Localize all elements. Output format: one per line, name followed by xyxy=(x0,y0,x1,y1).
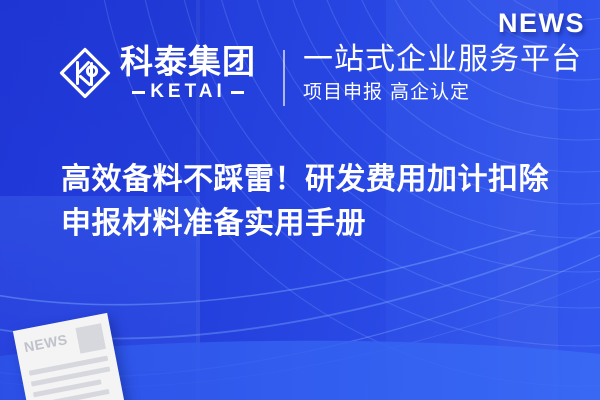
logo-dash-left xyxy=(132,91,145,94)
brand-name-en: KETAI xyxy=(145,82,231,102)
brand-name-en-row: KETAI xyxy=(120,82,256,102)
image-placeholder-block-icon xyxy=(75,323,105,353)
banner-header: NEWS 科泰集团 xyxy=(0,0,600,132)
headline-title: 高效备料不踩雷！研发费用加计扣除申报材料准备实用手册 xyxy=(61,158,571,246)
ketai-kp-diamond-logo-icon xyxy=(58,46,112,100)
logo-dash-right xyxy=(231,91,244,94)
newspaper-text-lines xyxy=(29,356,115,400)
header-divider xyxy=(283,50,285,106)
brand-logo[interactable]: 科泰集团 KETAI xyxy=(58,44,256,102)
tagline-block: 一站式企业服务平台 项目申报 高企认定 xyxy=(303,43,582,104)
brand-name-cn: 科泰集团 xyxy=(120,44,256,80)
news-badge: NEWS xyxy=(498,8,585,39)
tagline-sub: 项目申报 高企认定 xyxy=(303,80,582,104)
news-banner: NEWS 科泰集团 xyxy=(0,0,600,400)
newspaper-masthead: NEWS xyxy=(23,331,69,355)
tagline-main: 一站式企业服务平台 xyxy=(303,43,582,77)
